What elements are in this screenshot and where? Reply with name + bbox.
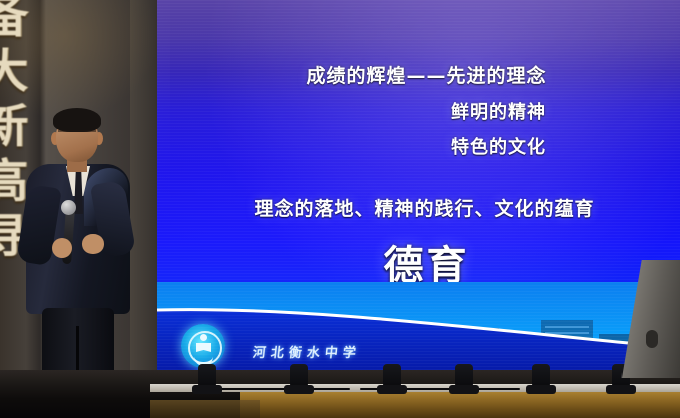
stage-light-fixture	[455, 364, 473, 388]
presenter-brow	[58, 130, 96, 140]
stage-light-fixture	[198, 364, 216, 388]
stage-cable	[210, 388, 350, 390]
banner-char-1: 大	[0, 49, 28, 94]
projection-screen: 成绩的辉煌——先进的理念 鲜明的精神 特色的文化 理念的落地、精神的践行、文化的…	[157, 0, 680, 372]
screen-scanline-overlay	[157, 0, 680, 372]
presenter-hand-left	[52, 238, 72, 258]
presenter-hand-right	[82, 234, 104, 254]
stage-light-fixture	[290, 364, 308, 388]
stage-front-warm-panel-left	[150, 400, 260, 418]
screenshot-root: 备 大 新 高 寻 成绩的辉煌——先进的理念 鲜明的精神 特色的文化 理念的落地…	[0, 0, 680, 418]
stage-monitor-port-icon	[646, 330, 658, 348]
banner-char-0: 备	[0, 0, 28, 39]
stage-light-fixture	[383, 364, 401, 388]
stage-light-fixture	[532, 364, 550, 388]
stage-front-warm-panel	[240, 392, 680, 418]
microphone-head-icon	[61, 200, 76, 215]
presenter-hair	[53, 108, 101, 132]
